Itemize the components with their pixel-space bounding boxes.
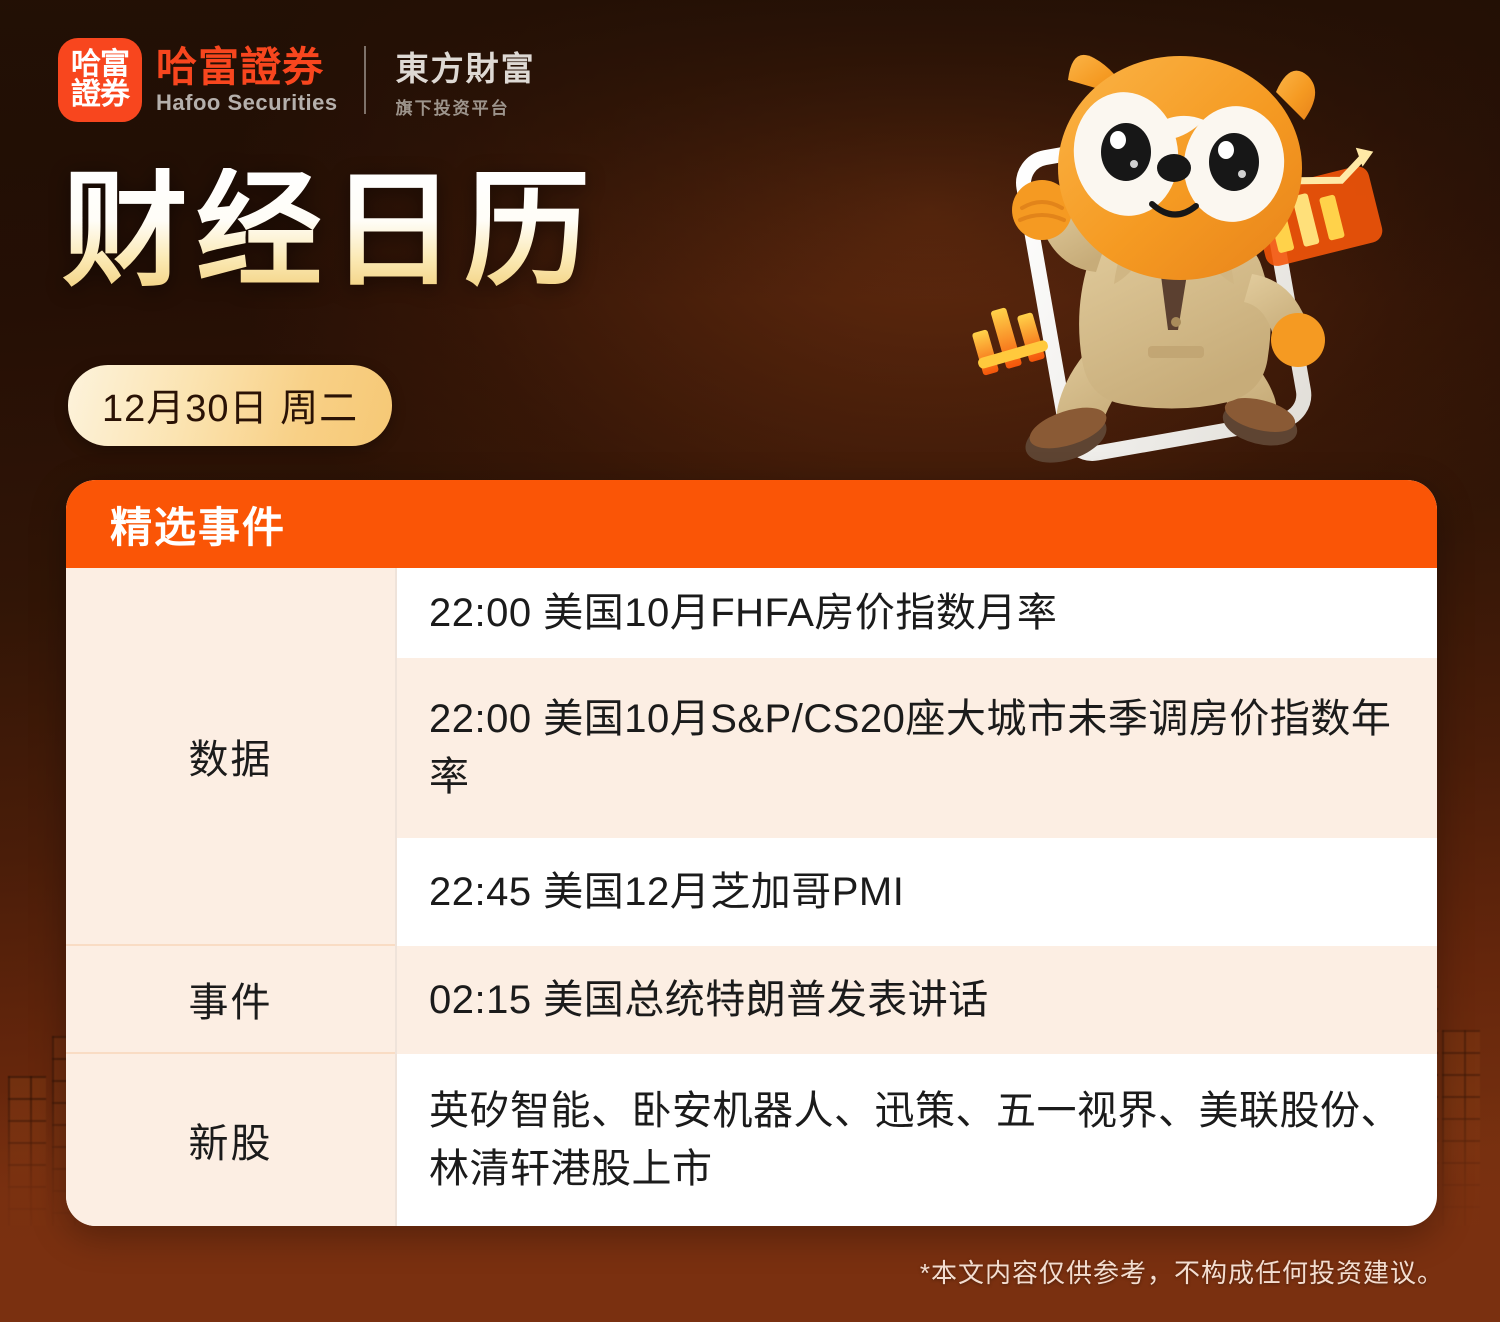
card-body: 数据 事件 新股 22:00 美国10月FHFA房价指数月率 22:00 美国1…	[66, 568, 1437, 1226]
logo-mark-line1: 哈富	[71, 50, 129, 80]
cat-mascot-icon	[960, 28, 1400, 483]
content-column: 22:00 美国10月FHFA房价指数月率 22:00 美国10月S&P/CS2…	[395, 568, 1437, 1226]
hafoo-logo-icon: 哈富 證券	[58, 38, 142, 122]
brand-name-cn: 哈富證券	[156, 46, 338, 89]
table-row[interactable]: 22:00 美国10月FHFA房价指数月率	[395, 568, 1437, 658]
card-header: 精选事件	[66, 480, 1437, 568]
table-row[interactable]: 22:00 美国10月S&P/CS20座大城市未季调房价指数年率	[395, 658, 1437, 838]
brand-name-en: Hafoo Securities	[156, 91, 338, 114]
category-label-ipo: 新股	[66, 1054, 395, 1226]
partner-block: 東方財富 旗下投资平台	[396, 42, 536, 119]
brand-logo[interactable]: 哈富 證券 哈富證券 Hafoo Securities 東方財富 旗下投资平台	[58, 38, 536, 122]
category-label-data: 数据	[66, 568, 395, 946]
category-column: 数据 事件 新股	[66, 568, 395, 1226]
date-badge: 12月30日 周二	[68, 365, 392, 446]
brand-name-block: 哈富證券 Hafoo Securities	[156, 46, 338, 114]
disclaimer-text: *本文内容仅供参考，不构成任何投资建议。	[920, 1253, 1444, 1290]
card-header-title: 精选事件	[110, 494, 286, 555]
page-title: 财经日历	[62, 168, 598, 294]
category-label-event: 事件	[66, 946, 395, 1054]
events-card: 精选事件 数据 事件 新股 22:00 美国10月FHFA房价指数月率 22:0…	[66, 480, 1437, 1226]
logo-mark-line2: 證券	[71, 80, 129, 110]
logo-divider	[364, 46, 366, 114]
table-row[interactable]: 英矽智能、卧安机器人、迅策、五一视界、美联股份、林清轩港股上市	[395, 1054, 1437, 1226]
partner-name: 東方財富	[396, 42, 536, 90]
table-row[interactable]: 22:45 美国12月芝加哥PMI	[395, 838, 1437, 946]
table-row[interactable]: 02:15 美国总统特朗普发表讲话	[395, 946, 1437, 1054]
partner-tagline: 旗下投资平台	[396, 94, 536, 119]
